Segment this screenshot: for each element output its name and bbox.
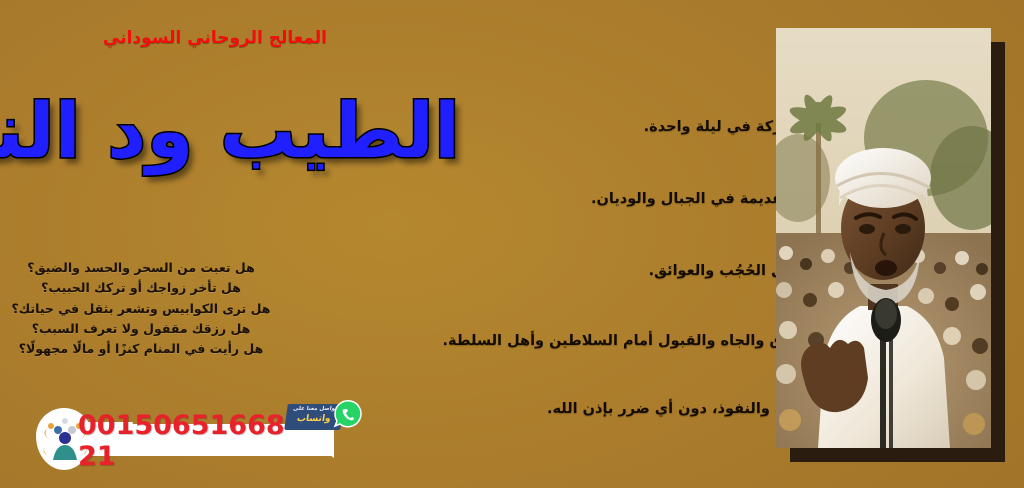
whatsapp-badge[interactable]: تواصل معنا على واتساب (286, 400, 364, 436)
question-item: هل تعبت من السحر والحسد والضيق؟ (0, 258, 282, 278)
question-item: هل رزقك مقفول ولا تعرف السبب؟ (0, 319, 282, 339)
portrait-photo (776, 28, 991, 448)
whatsapp-icon[interactable] (332, 398, 366, 432)
page-title: الطيب ود النور (10, 86, 460, 176)
brand-headline: المعالج الروحاني السوداني (0, 28, 430, 48)
questions-block: هل تعبت من السحر والحسد والضيق؟ هل تأخر … (0, 258, 282, 359)
poster-canvas: المعالج الروحاني السوداني الطيب ود النور… (0, 0, 1024, 488)
question-item: هل ترى الكوابيس وتشعر بثقل في حياتك؟ (0, 299, 282, 319)
question-item: هل رأيت في المنام كنزًا أو مالًا مجهولًا… (0, 339, 282, 359)
question-item: هل تأخر زواجك أو تركك الحبيب؟ (0, 278, 282, 298)
contact-banner[interactable]: 00150651668 21 تواصل معنا على واتساب (18, 404, 358, 474)
